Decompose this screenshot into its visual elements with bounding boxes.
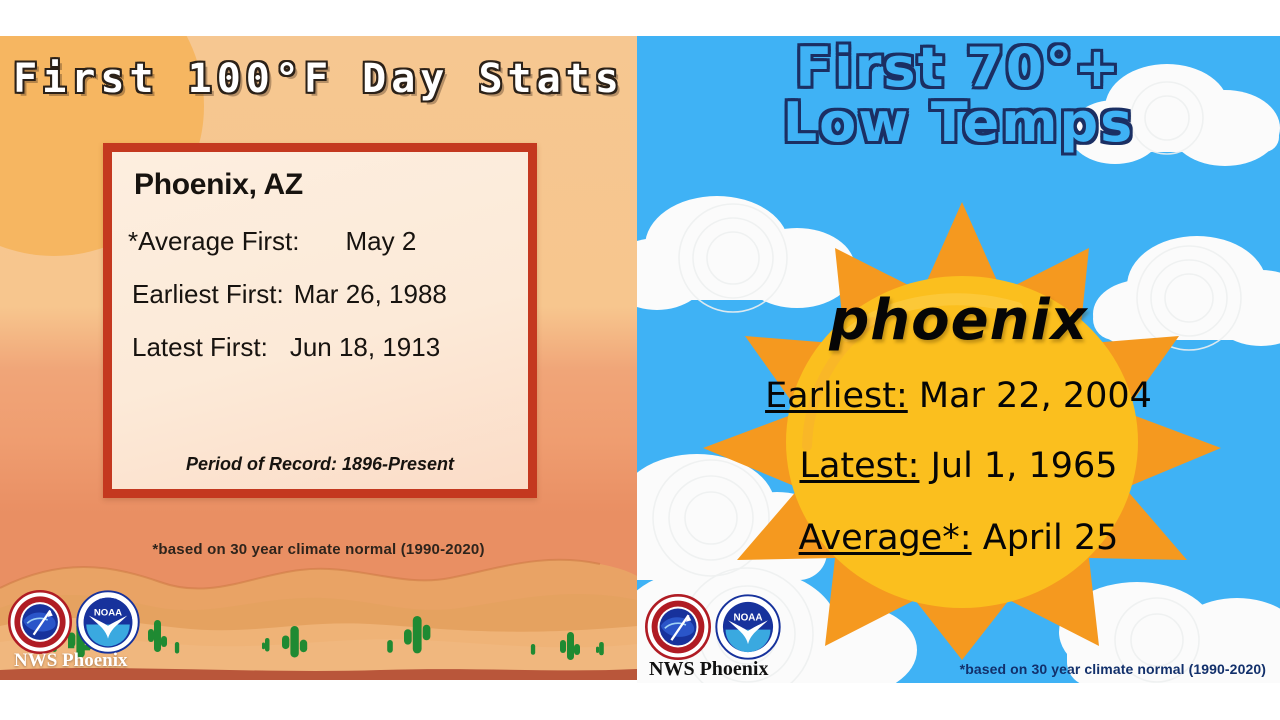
- right-row-latest: Latest: Jul 1, 1965: [637, 446, 1280, 486]
- stat-value-latest-first: Jun 18, 1913: [290, 332, 440, 363]
- stat-value-earliest-first: Mar 26, 1988: [294, 279, 447, 310]
- infographic-pair: First 100°F Day Stats Phoenix, AZ *Avera…: [0, 0, 1280, 720]
- svg-text:NOAA: NOAA: [733, 612, 762, 623]
- stat-value-average-first: May 2: [345, 226, 416, 257]
- nws-logo-icon: [8, 590, 72, 654]
- stat-label-average-first: *Average First:: [128, 226, 299, 257]
- stat-row-average-first: *Average First: May 2: [132, 226, 508, 257]
- nws-logo-icon: [645, 594, 711, 660]
- stat-row-earliest-first: Earliest First: Mar 26, 1988: [132, 279, 508, 310]
- noaa-logo-icon: NOAA: [76, 590, 140, 654]
- right-value-average: April 25: [983, 518, 1119, 558]
- left-panel-title: First 100°F Day Stats: [0, 56, 637, 102]
- svg-text:NOAA: NOAA: [94, 608, 122, 619]
- stats-card-inner: Phoenix, AZ *Average First: May 2 Earlie…: [112, 152, 528, 489]
- right-value-latest: Jul 1, 1965: [931, 446, 1118, 486]
- logo-row: NOAA: [645, 594, 805, 660]
- card-city-heading: Phoenix, AZ: [134, 168, 508, 202]
- right-title-line-1: First 70°+: [795, 36, 1121, 99]
- noaa-logo-icon: NOAA: [715, 594, 781, 660]
- right-panel-footnote: *based on 30 year climate normal (1990-2…: [960, 661, 1266, 677]
- left-panel-footnote: *based on 30 year climate normal (1990-2…: [0, 541, 637, 558]
- stats-card: Phoenix, AZ *Average First: May 2 Earlie…: [103, 143, 537, 498]
- right-panel-logos: NOAA NWS Phoenix: [645, 594, 805, 681]
- right-panel-title: First 70°+ Low Temps: [637, 42, 1280, 150]
- stat-row-latest-first: Latest First: Jun 18, 1913: [132, 332, 508, 363]
- right-label-earliest: Earliest:: [765, 376, 908, 416]
- right-label-average: Average*:: [799, 518, 972, 558]
- right-title-line-2: Low Temps: [637, 97, 1280, 150]
- right-row-average: Average*: April 25: [637, 518, 1280, 558]
- left-panel-logos: NOAA NWS Phoenix: [8, 590, 158, 672]
- right-infographic-panel: First 70°+ Low Temps phoenix Earliest: M…: [637, 36, 1280, 683]
- logo-row: NOAA: [8, 590, 158, 654]
- right-logo-caption: NWS Phoenix: [649, 658, 805, 681]
- right-city-heading: phoenix: [637, 288, 1280, 353]
- stat-label-latest-first: Latest First:: [132, 332, 268, 363]
- right-label-latest: Latest:: [799, 446, 919, 486]
- stat-label-earliest-first: Earliest First:: [132, 279, 284, 310]
- right-row-earliest: Earliest: Mar 22, 2004: [637, 376, 1280, 416]
- left-infographic-panel: First 100°F Day Stats Phoenix, AZ *Avera…: [0, 36, 637, 680]
- period-of-record-text: Period of Record: 1896-Present: [112, 454, 528, 475]
- right-value-earliest: Mar 22, 2004: [919, 376, 1152, 416]
